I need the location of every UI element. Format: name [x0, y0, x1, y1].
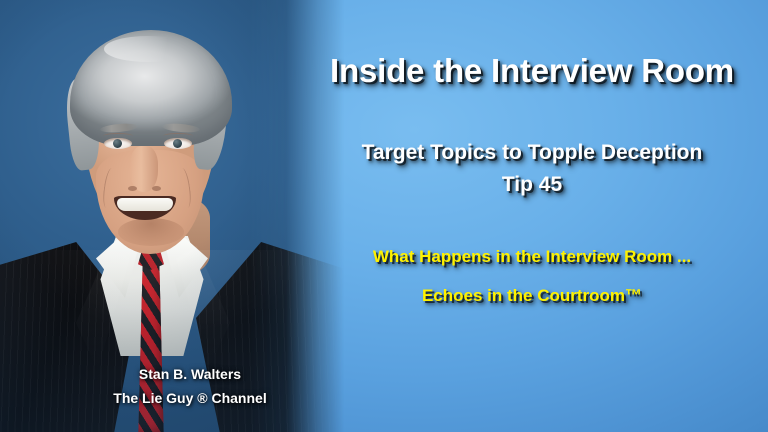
presenter-name: Stan B. Walters — [34, 362, 346, 386]
title-text-column: Inside the Interview Room Target Topics … — [296, 0, 768, 432]
presenter-credit: Stan B. Walters The Lie Guy ® Channel — [34, 362, 346, 410]
page-title: Inside the Interview Room — [296, 52, 768, 90]
tagline-line-2: Echoes in the Courtroom™ — [296, 286, 768, 306]
tagline-line-1: What Happens in the Interview Room ... — [296, 247, 768, 267]
subtitle-tip-number: Tip 45 — [296, 173, 768, 197]
presenter-channel: The Lie Guy ® Channel — [34, 386, 346, 410]
subtitle-series: Target Topics to Topple Deception — [296, 141, 768, 165]
video-title-slide: Inside the Interview Room Target Topics … — [0, 0, 768, 432]
